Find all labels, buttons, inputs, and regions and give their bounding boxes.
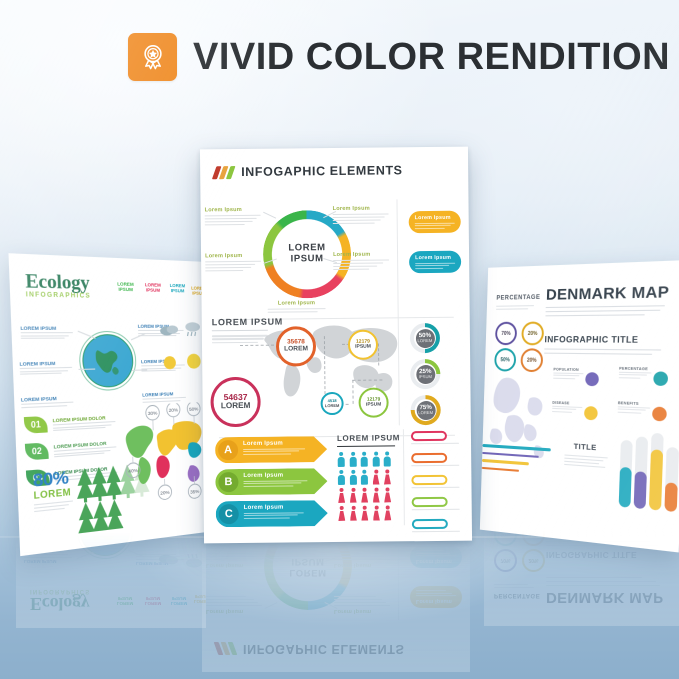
map-marker[interactable]: 54637 LOREM [210,377,261,428]
scene: VIVID COLOR RENDITION Ecology INFOGRAPHI… [0,0,679,679]
percent-donut: 50%LOREM [410,323,440,353]
side-pill[interactable]: Lorem Ipsum [409,211,461,234]
percentage-heading: PERCENTAGE [496,295,540,302]
svg-text:50%: 50% [189,406,199,412]
legend-dot [584,406,598,420]
legend-label: POPULATION [553,367,586,379]
denmark-map-subtext [545,305,667,319]
legend-dot [653,371,668,386]
poster-title-block: INFOGAPHIC ELEMENTS [214,163,468,180]
eco-callout: LOREM IPSUM [142,391,191,403]
people-row [338,488,401,504]
percent-donut: 75%LOREM [411,395,441,425]
person-icon [372,470,380,485]
mini-donut: 20% [520,348,543,372]
svg-text:20%: 20% [160,490,170,497]
stripes-logo-icon [212,166,236,179]
legend-label: DISEASE [552,401,585,413]
person-icon [360,470,368,485]
wheel-label-right-2: Lorem Ipsum [333,251,391,272]
eco-stat: 80% LOREM [33,469,73,512]
ecology-title-block: Ecology INFOGRAPHICS [25,270,91,300]
legend-dot [652,407,667,422]
legend-label: BENEFITS [618,401,653,414]
infographic-subtext [544,348,666,357]
floor-surface [0,537,679,679]
person-icon [361,488,369,503]
arrow-step-a[interactable]: A Lorem Ipsum [215,436,327,463]
map-marker[interactable]: 4518 LOREM [320,392,343,415]
list-pill-item[interactable] [411,431,459,445]
person-icon [372,488,380,503]
person-icon [372,506,380,521]
list-pill-item[interactable] [412,497,460,511]
recycle-badge: LOREMIPSUM [140,282,165,293]
person-icon [383,470,391,485]
people-row [337,470,400,486]
recycle-badge: LOREMIPSUM [112,281,138,292]
chart-title: TITLE [565,441,606,453]
map-marker[interactable]: 12179 IPSUM [358,387,388,417]
recycle-badge: LOREMIPSUM [165,283,190,294]
people-row [338,506,401,522]
leaf-item-text: LOREM IPSUM DOLOR [53,414,120,431]
person-icon [384,506,392,521]
legend-dot [585,372,599,386]
people-block-title: LOREM IPSUM [337,433,400,443]
colored-world-map: 30%20%50% 40%20%35% [117,402,208,507]
list-pill-item[interactable] [411,453,459,467]
sun-icon [161,354,179,376]
person-icon [349,506,357,521]
denmark-map-poster[interactable]: DENMARK MAP INFOGRAPHIC TITLE PERCENTAGE… [480,260,679,552]
person-icon [338,488,346,503]
leaf-badge: 01 [24,416,48,434]
side-pill[interactable]: Lorem Ipsum [409,251,461,274]
infographic-elements-poster[interactable]: INFOGAPHIC ELEMENTS LOREM IPSUM Lorem Ip… [200,147,472,544]
tube-bar-chart [619,427,679,513]
percentage-subtext [496,305,536,311]
eco-stat-label: LOREM [33,487,72,502]
list-pill-item[interactable] [412,519,460,533]
map-marker[interactable]: 35678 LOREM [276,326,316,366]
chart-title-block: TITLE [564,441,608,469]
tube-bar [634,436,648,509]
wheel-label-bottom: Lorem Ipsum [268,300,326,315]
mini-donut: 70% [495,322,517,345]
wheel-label-left-2: Lorem Ipsum [205,253,263,274]
page-title: VIVID COLOR RENDITION [193,36,670,79]
list-pill-item[interactable] [411,475,459,489]
percent-donut: 25%IPSUM [410,359,440,389]
person-icon [349,488,357,503]
cloud-icon [159,322,180,342]
denmark-map-title: DENMARK MAP [546,283,670,304]
mini-donut: 50% [494,348,516,372]
arrow-step-b[interactable]: B Lorem Ipsum [215,468,327,495]
leaf-item-text: LOREM IPSUM DOLOR [54,440,121,458]
svg-text:20%: 20% [169,407,179,414]
poster-title: INFOGAPHIC ELEMENTS [241,163,403,179]
header: VIVID COLOR RENDITION [128,33,670,81]
ecology-infographics-poster[interactable]: Ecology INFOGRAPHICS LOREMIPSUM LOREMIPS… [8,253,210,556]
person-icon [383,452,391,467]
person-icon [349,452,357,467]
award-ribbon-icon [128,33,177,81]
person-icon [349,470,357,485]
mini-donut: 20% [521,322,544,346]
horizontal-bars [482,444,551,475]
person-icon [360,452,368,467]
ecology-title: Ecology [25,270,91,295]
person-icon [361,506,369,521]
person-icon [383,488,391,503]
person-icon [338,506,346,521]
svg-text:35%: 35% [190,489,200,496]
legend-label: PERCENTAGE [619,366,654,378]
tube-bar [664,447,679,512]
eco-callout: LOREM IPSUM [21,395,78,408]
person-icon [337,452,345,467]
ecology-subtitle: INFOGRAPHICS [26,292,91,300]
wheel-label-right-1: Lorem Ipsum [333,205,391,226]
map-marker[interactable]: 12179 IPSUM [348,330,378,360]
globe-icon [81,334,134,388]
infographic-title-heading: INFOGRAPHIC TITLE [544,334,638,345]
tube-bar [649,433,664,511]
svg-text:40%: 40% [128,468,139,475]
eco-callout: LOREM IPSUM [20,325,77,339]
wheel-label-left-1: Lorem Ipsum [205,207,263,228]
person-icon [372,452,380,467]
people-pictogram-block: LOREM IPSUM [337,433,401,524]
leaf-badge: 02 [25,442,49,460]
tube-bar [619,440,633,508]
sun-icon [184,352,203,376]
person-icon [337,470,345,485]
arrow-step-c[interactable]: C Lorem Ipsum [216,500,328,527]
eco-callout: LOREM IPSUM [19,360,76,375]
svg-text:30%: 30% [148,410,158,417]
people-row [337,452,400,468]
